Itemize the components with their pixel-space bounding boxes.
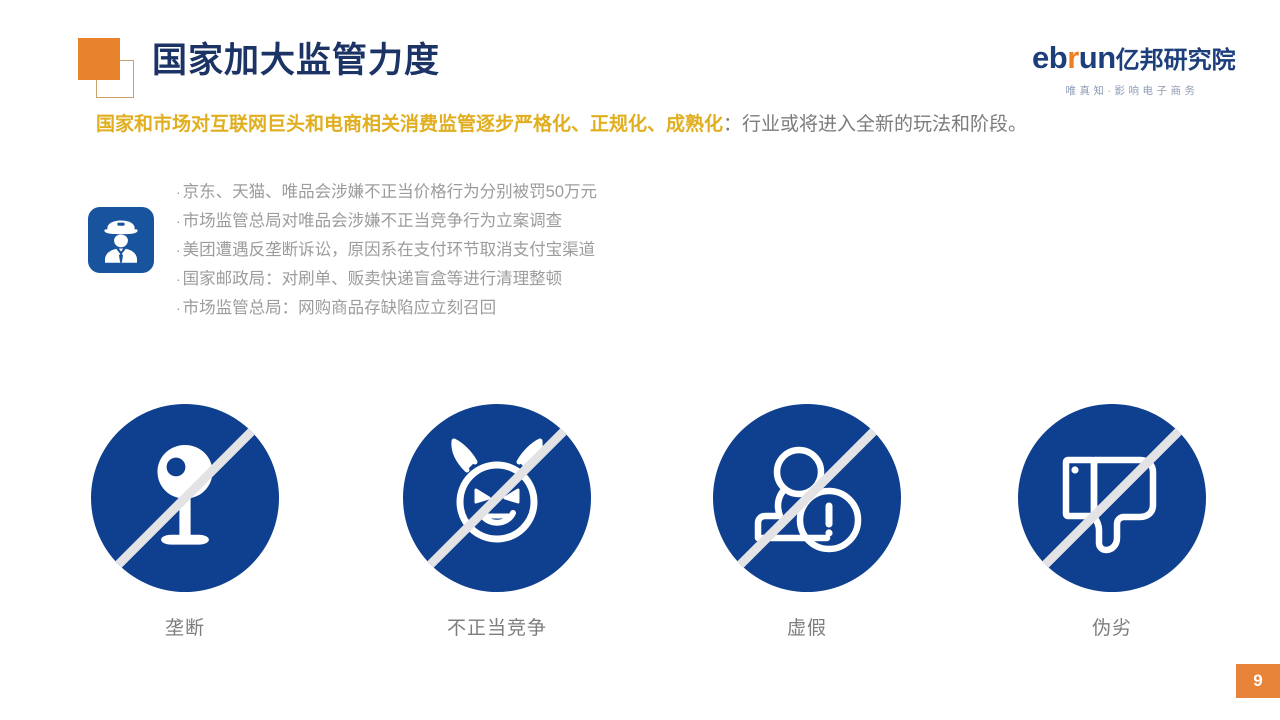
person-alert-icon (707, 398, 907, 598)
prohibition-label: 垄断 (60, 616, 310, 642)
devil-face-icon (397, 398, 597, 598)
prohibition-label: 虚假 (682, 616, 932, 642)
slide-root: 国家加大监管力度 ebrun亿邦研究院 唯真知·影响电子商务 国家和市场对互联网… (0, 0, 1280, 720)
lead-rest-text: ：行业或将进入全新的玩法和阶段。 (723, 114, 1027, 135)
list-item: ·市场监管总局对唯品会涉嫌不正当竞争行为立案调查 (176, 207, 776, 236)
orange-square-decoration (78, 38, 120, 80)
prohibition-item-false: 虚假 (682, 398, 932, 642)
logo-chinese-name: 亿邦研究院 (1116, 47, 1236, 74)
logo-tagline: 唯真知·影响电子商务 (1032, 83, 1232, 98)
list-item: ·美团遭遇反垄断诉讼，原因系在支付环节取消支付宝渠道 (176, 236, 776, 265)
lead-statement: 国家和市场对互联网巨头和电商相关消费监管逐步严格化、正规化、成熟化：行业或将进入… (96, 110, 1027, 140)
page-title: 国家加大监管力度 (152, 36, 440, 86)
prohibition-item-unfair-competition: 不正当竞争 (372, 398, 622, 642)
prohibition-item-monopoly: 垄断 (60, 398, 310, 642)
logo-letter-r: r (1067, 40, 1079, 75)
list-item-text: 京东、天猫、唯品会涉嫌不正当价格行为分别被罚50万元 (183, 183, 597, 201)
logo-wordmark: ebrun亿邦研究院 (1032, 40, 1232, 79)
bullet-marker: · (176, 242, 181, 258)
list-item: ·市场监管总局：网购商品存缺陷应立刻召回 (176, 294, 776, 323)
list-item: ·京东、天猫、唯品会涉嫌不正当价格行为分别被罚50万元 (176, 178, 776, 207)
police-officer-icon (88, 207, 154, 273)
logo-letter-b: b (1049, 40, 1067, 75)
bullet-marker: · (176, 300, 181, 316)
list-item-text: 市场监管总局：网购商品存缺陷应立刻召回 (183, 299, 497, 317)
bullet-marker: · (176, 213, 181, 229)
list-item-text: 国家邮政局：对刷单、贩卖快递盲盒等进行清理整顿 (183, 270, 563, 288)
brand-logo: ebrun亿邦研究院 唯真知·影响电子商务 (1032, 40, 1232, 98)
prohibition-label: 不正当竞争 (372, 616, 622, 642)
prohibition-label: 伪劣 (987, 616, 1237, 642)
thumbs-down-icon (1012, 398, 1212, 598)
list-item: ·国家邮政局：对刷单、贩卖快递盲盒等进行清理整顿 (176, 265, 776, 294)
page-number-badge: 9 (1236, 664, 1280, 698)
prohibition-icon-row: 垄断 (0, 398, 1280, 658)
list-item-text: 市场监管总局对唯品会涉嫌不正当竞争行为立案调查 (183, 212, 563, 230)
slide-header: 国家加大监管力度 ebrun亿邦研究院 唯真知·影响电子商务 (0, 0, 1280, 104)
bullet-marker: · (176, 184, 181, 200)
lead-bold-text: 国家和市场对互联网巨头和电商相关消费监管逐步严格化、正规化、成熟化 (96, 114, 723, 135)
bullet-marker: · (176, 271, 181, 287)
logo-letters-un: un (1079, 40, 1116, 75)
logo-letter-e: e (1032, 40, 1049, 75)
prohibition-item-counterfeit: 伪劣 (987, 398, 1237, 642)
list-item-text: 美团遭遇反垄断诉讼，原因系在支付环节取消支付宝渠道 (183, 241, 596, 259)
title-decoration (78, 38, 140, 94)
bullet-list: ·京东、天猫、唯品会涉嫌不正当价格行为分别被罚50万元 ·市场监管总局对唯品会涉… (176, 178, 776, 323)
monopoly-pawn-icon (85, 398, 285, 598)
